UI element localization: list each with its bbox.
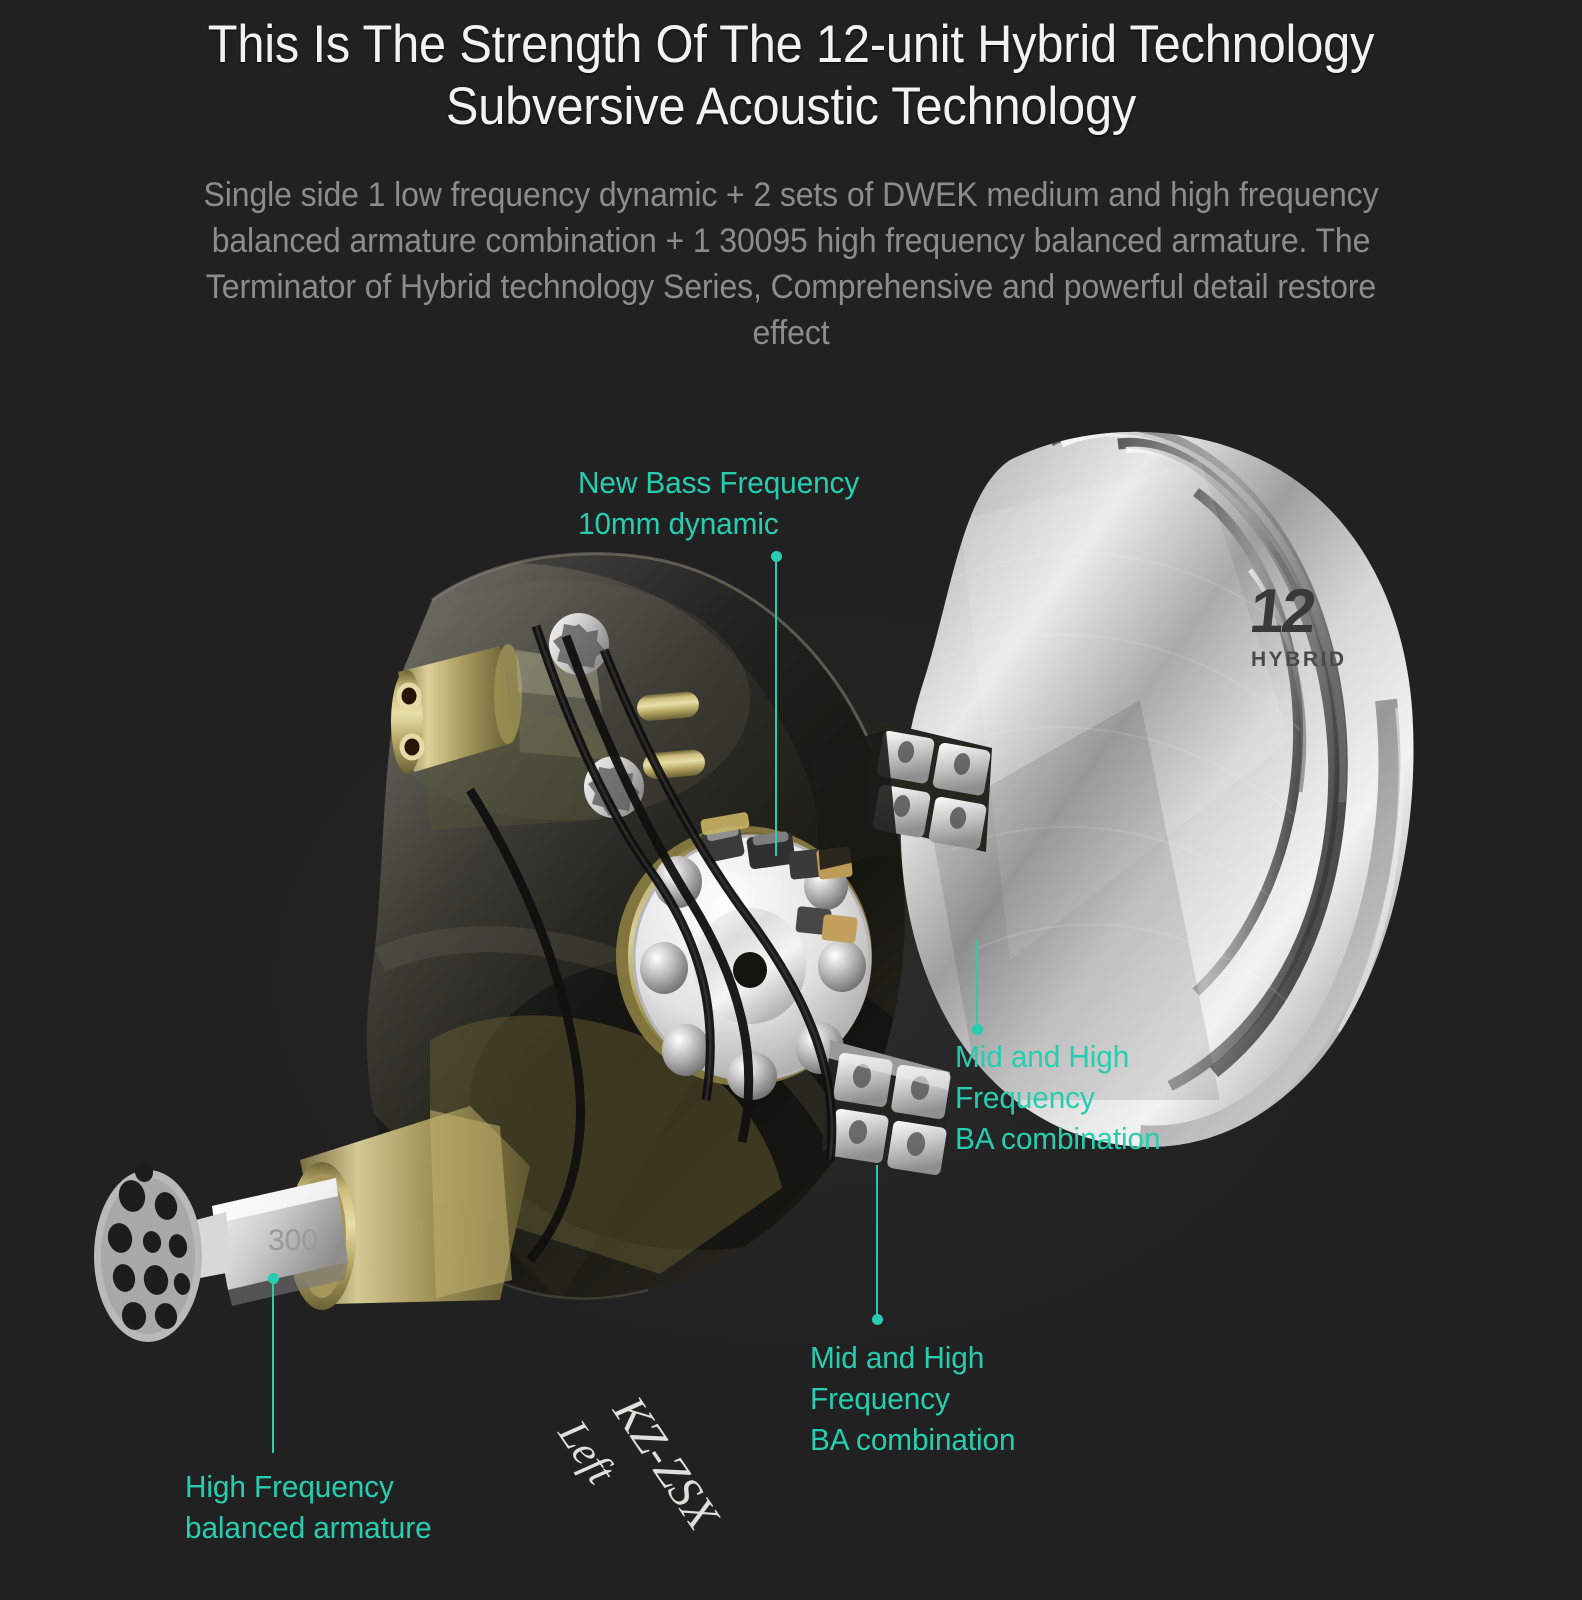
callout-mid-high-frequency-right: Mid and High Frequency BA combination xyxy=(955,1036,1160,1159)
title-line-1: This Is The Strength Of The 12-unit Hybr… xyxy=(63,14,1518,76)
ba-driver-30095: 300 xyxy=(94,1160,348,1342)
callout-high-frequency-balanced-armature: High Frequency balanced armature xyxy=(185,1466,432,1548)
leader-dot-top xyxy=(771,551,782,562)
callout-mid-high-frequency-bottom: Mid and High Frequency BA combination xyxy=(810,1337,1015,1460)
leader-dot-bottom xyxy=(972,1024,983,1035)
product-illustration: KZ-ZSX Left xyxy=(0,400,1582,1600)
shell-model-marking: KZ-ZSX Left xyxy=(548,1376,730,1572)
leader-stroke xyxy=(976,940,978,1030)
driver-marking-code: 300 xyxy=(268,1224,318,1257)
callout-new-bass-frequency: New Bass Frequency 10mm dynamic xyxy=(578,462,859,544)
leader-line-high-frequency xyxy=(267,1278,279,1453)
leader-stroke xyxy=(775,556,777,856)
leader-line-mid-high-bottom xyxy=(871,1165,883,1320)
leader-line-mid-high-right xyxy=(971,940,983,1030)
title-line-2: Subversive Acoustic Technology xyxy=(63,76,1518,138)
leader-stroke xyxy=(876,1165,878,1320)
leader-line-bass xyxy=(770,556,782,856)
page-subtitle: Single side 1 low frequency dynamic + 2 … xyxy=(199,172,1383,356)
leader-dot-top xyxy=(268,1273,279,1284)
page-title: This Is The Strength Of The 12-unit Hybr… xyxy=(63,14,1518,138)
leader-stroke xyxy=(272,1278,274,1453)
leader-dot-bottom xyxy=(872,1314,883,1325)
header: This Is The Strength Of The 12-unit Hybr… xyxy=(0,0,1582,400)
nozzle-mesh-disc xyxy=(94,1160,202,1342)
faceplate-word: HYBRID xyxy=(1251,648,1347,671)
faceplate-number: 12 xyxy=(1247,577,1319,646)
